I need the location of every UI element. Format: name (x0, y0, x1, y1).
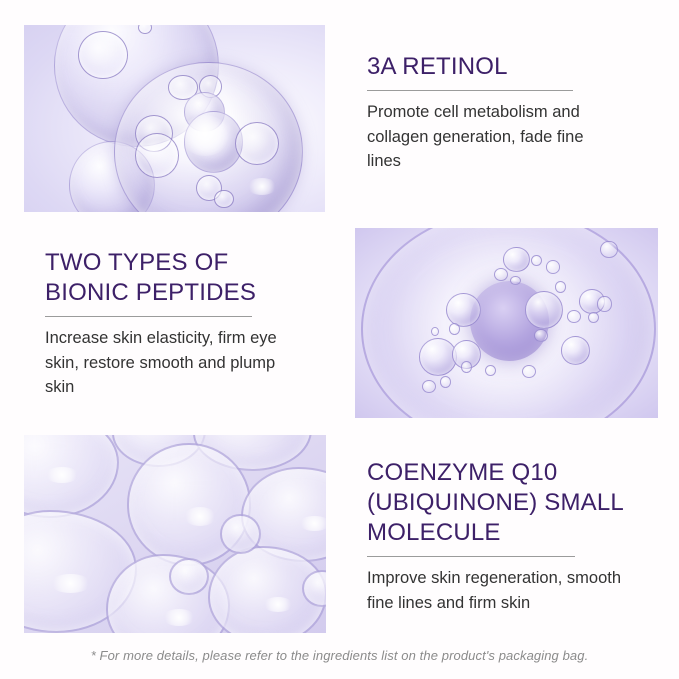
bubble-shape (522, 365, 536, 378)
highlight-glint (181, 115, 229, 156)
section-heading: TWO TYPES OF BIONIC PEPTIDES (45, 248, 315, 308)
bubble-shape (534, 329, 548, 342)
section-heading: 3A RETINOL (367, 52, 627, 82)
bubble-shape (235, 122, 279, 165)
section-body: Increase skin elasticity, firm eye skin,… (45, 326, 305, 400)
bubble-shape (214, 190, 234, 209)
ingredient-image-coenzyme-q10 (24, 435, 326, 633)
bubble-shape (449, 323, 460, 335)
ingredients-disclaimer: * For more details, please refer to the … (0, 648, 679, 663)
bubble-shape (510, 276, 521, 286)
section-body: Improve skin regeneration, smooth fine l… (367, 566, 642, 615)
bubble-shape (431, 327, 439, 337)
highlight-glint (247, 178, 277, 195)
section-divider (367, 90, 573, 91)
bubble-shape (503, 247, 529, 272)
ingredient-image-retinol (24, 25, 325, 212)
section-coenzyme-q10: COENZYME Q10 (UBIQUINONE) SMALL MOLECULE… (367, 458, 647, 615)
section-retinol: 3A RETINOL Promote cell metabolism and c… (367, 52, 627, 174)
section-divider (45, 316, 252, 317)
section-body: Promote cell metabolism and collagen gen… (367, 100, 622, 174)
bubble-shape (561, 336, 590, 365)
bubble-shape (597, 296, 611, 311)
section-heading: COENZYME Q10 (UBIQUINONE) SMALL MOLECULE (367, 458, 645, 548)
bubble-shape (546, 260, 560, 273)
bubble-shape (555, 281, 566, 293)
bubble-shape (446, 293, 481, 327)
bubble-shape (422, 380, 436, 393)
bubble-shape (600, 241, 617, 258)
ingredient-image-bionic-peptides (355, 228, 658, 418)
infographic-page: 3A RETINOL Promote cell metabolism and c… (0, 0, 679, 679)
bubble-shape (220, 514, 260, 554)
bubble-shape (531, 255, 542, 267)
section-bionic-peptides: TWO TYPES OF BIONIC PEPTIDES Increase sk… (45, 248, 315, 400)
bubble-shape (461, 361, 472, 373)
bubble-shape (525, 291, 563, 329)
bubble-shape (440, 376, 451, 388)
section-divider (367, 556, 575, 557)
